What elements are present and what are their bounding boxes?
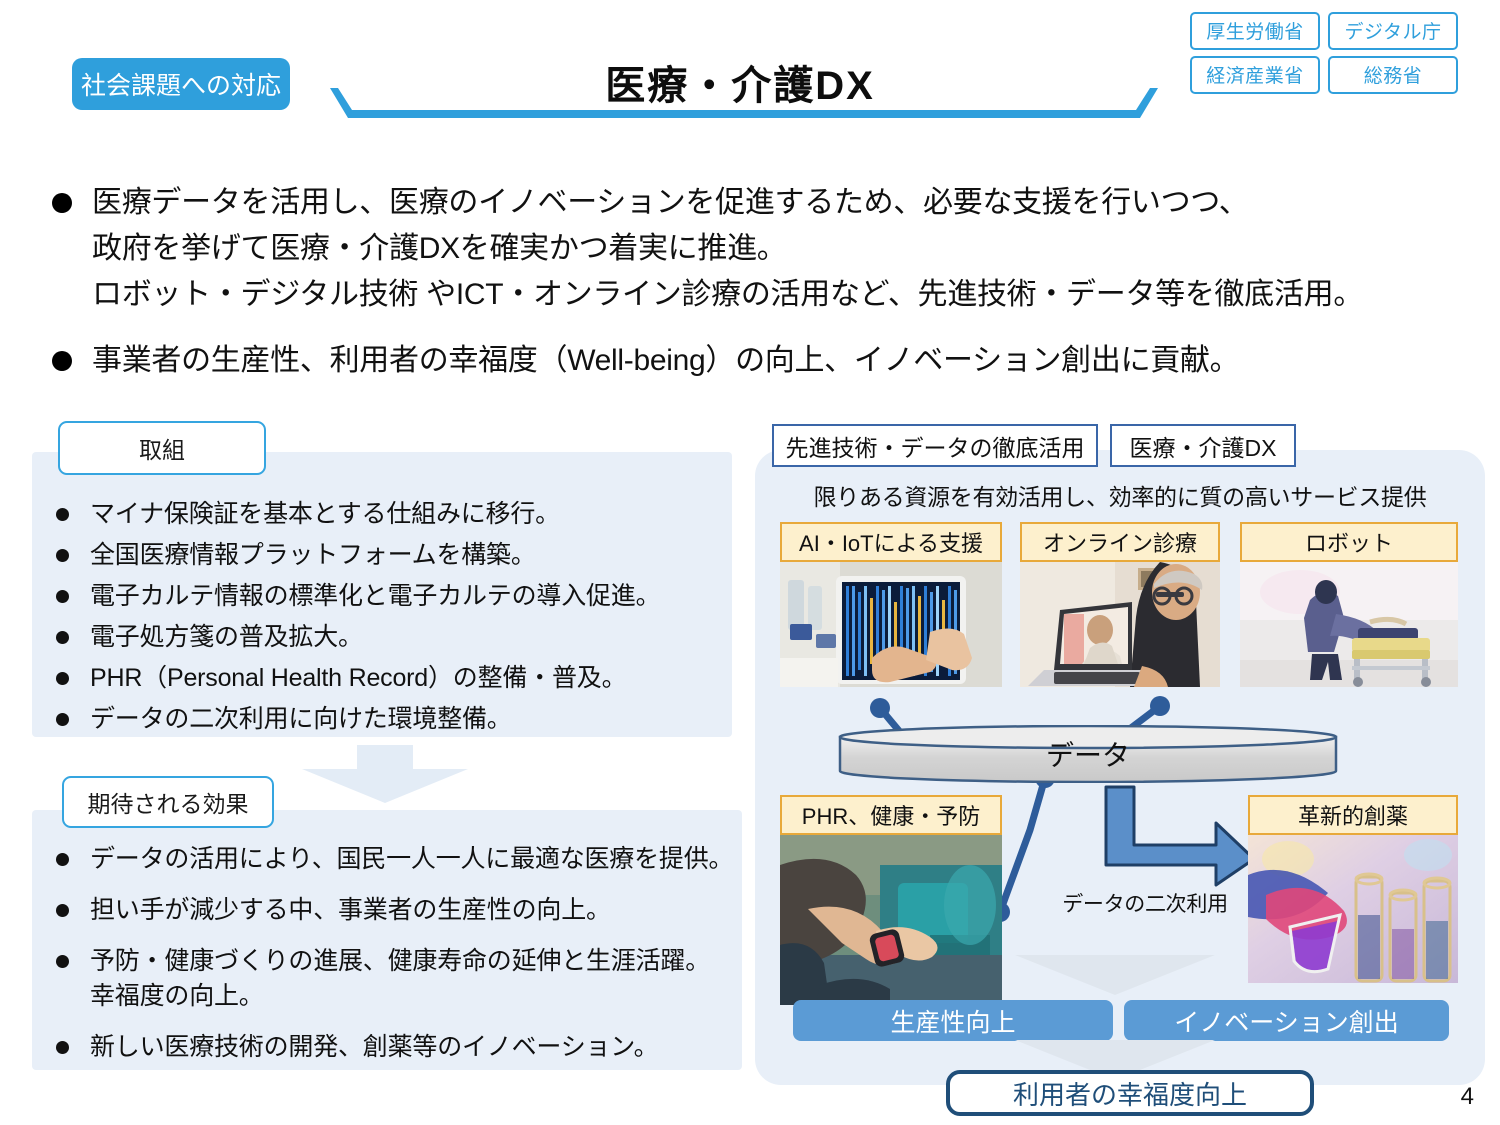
list-item: 電子処方箋の普及拡大。	[56, 620, 736, 655]
list-item: 予防・健康づくりの進展、健康寿命の延伸と生涯活躍。 幸福度の向上。	[56, 944, 756, 1014]
ministry-badge: デジタル庁	[1328, 12, 1458, 50]
list-item-label: 全国医療情報プラットフォームを構築。	[90, 538, 536, 573]
title-ribbon-decoration	[330, 88, 1158, 126]
list-item-label: データの二次利用に向けた環境整備。	[90, 702, 512, 737]
list-item: 担い手が減少する中、事業者の生産性の向上。	[56, 893, 756, 928]
list-item: データの活用により、国民一人一人に最適な医療を提供。	[56, 842, 756, 877]
list-item-label: 電子カルテ情報の標準化と電子カルテの導入促進。	[90, 579, 660, 614]
list-item: PHR（Personal Health Record）の整備・普及。	[56, 661, 736, 696]
flow-chevron-icon	[1015, 955, 1215, 997]
card-ai-iot: AI・IoTによる支援	[780, 522, 1002, 687]
list-item: 全国医療情報プラットフォームを構築。	[56, 538, 736, 573]
card-label: オンライン診療	[1020, 522, 1220, 562]
list-item-label: 電子処方箋の普及拡大。	[90, 620, 363, 655]
list-item: 電子カルテ情報の標準化と電子カルテの導入促進。	[56, 579, 736, 614]
lead-bullet-list: 医療データを活用し、医療のイノベーションを促進するため、必要な支援を行いつつ、 …	[52, 180, 1472, 390]
list-item-label: マイナ保険証を基本とする仕組みに移行。	[90, 497, 560, 532]
list-item-label: 新しい医療技術の開発、創薬等のイノベーション。	[90, 1030, 658, 1065]
lead-line: 医療データを活用し、医療のイノベーションを促進するため、必要な支援を行いつつ、	[92, 180, 1363, 226]
laboratory-beaker-photo	[1248, 835, 1458, 983]
card-label: ロボット	[1240, 522, 1458, 562]
ministry-badge-group: 厚生労働省 デジタル庁 経済産業省 総務省	[1190, 12, 1458, 94]
lead-bullet-text: 医療データを活用し、医療のイノベーションを促進するため、必要な支援を行いつつ、 …	[92, 180, 1363, 318]
ministry-badge: 経済産業省	[1190, 56, 1320, 94]
card-online-consult: オンライン診療	[1020, 522, 1220, 687]
card-label: AI・IoTによる支援	[780, 522, 1002, 562]
card-drug-discovery: 革新的創薬	[1248, 795, 1458, 983]
lead-line: 政府を挙げて医療・介護DXを確実かつ着実に推進。	[92, 226, 1363, 272]
bullet-dot-icon	[56, 549, 69, 562]
initiatives-tag: 取組	[58, 421, 266, 475]
header-box-tech: 先進技術・データの徹底活用	[772, 424, 1098, 467]
list-item-label: PHR（Personal Health Record）の整備・普及。	[90, 661, 626, 696]
bullet-dot-icon	[52, 193, 72, 213]
bullet-dot-icon	[56, 955, 69, 968]
flow-down-arrow-icon	[300, 745, 470, 805]
list-item-label: データの活用により、国民一人一人に最適な医療を提供。	[90, 842, 733, 877]
card-phr-health: PHR、健康・予防	[780, 795, 1002, 1005]
bullet-dot-icon	[56, 713, 69, 726]
list-item: 新しい医療技術の開発、創薬等のイノベーション。	[56, 1030, 756, 1065]
list-item-label: 担い手が減少する中、事業者の生産性の向上。	[90, 893, 611, 928]
effects-list: データの活用により、国民一人一人に最適な医療を提供。 担い手が減少する中、事業者…	[56, 842, 756, 1081]
diagram-subcaption: 限りある資源を有効活用し、効率的に質の高いサービス提供	[755, 478, 1485, 512]
secondary-use-arrow-icon	[1098, 783, 1258, 888]
section-category-badge: 社会課題への対応	[72, 58, 290, 110]
smartwatch-fitness-photo	[780, 835, 1002, 1005]
lead-line: 事業者の生産性、利用者の幸福度（Well-being）の向上、イノベーション創出…	[92, 338, 1239, 384]
ministry-badge: 総務省	[1328, 56, 1458, 94]
ministry-badge: 厚生労働省	[1190, 12, 1320, 50]
card-label: 革新的創薬	[1248, 795, 1458, 835]
final-outcome-box: 利用者の幸福度向上	[946, 1070, 1314, 1116]
lead-bullet-item: 事業者の生産性、利用者の幸福度（Well-being）の向上、イノベーション創出…	[52, 338, 1472, 384]
card-care-robot: ロボット	[1240, 522, 1458, 687]
tablet-genomic-data-photo	[780, 562, 1002, 687]
bullet-dot-icon	[56, 631, 69, 644]
laptop-video-consult-photo	[1020, 562, 1220, 687]
lead-bullet-item: 医療データを活用し、医療のイノベーションを促進するため、必要な支援を行いつつ、 …	[52, 180, 1472, 318]
bullet-dot-icon	[56, 904, 69, 917]
list-item-label: 予防・健康づくりの進展、健康寿命の延伸と生涯活躍。 幸福度の向上。	[90, 944, 710, 1014]
initiatives-list: マイナ保険証を基本とする仕組みに移行。 全国医療情報プラットフォームを構築。 電…	[56, 497, 736, 743]
care-robot-transfer-photo	[1240, 562, 1458, 687]
bullet-dot-icon	[56, 672, 69, 685]
secondary-use-label: データの二次利用	[1040, 888, 1250, 918]
bullet-dot-icon	[56, 590, 69, 603]
bullet-dot-icon	[52, 351, 72, 371]
bullet-dot-icon	[56, 1041, 69, 1054]
result-productivity-button[interactable]: 生産性向上	[793, 1000, 1113, 1041]
header-box-dx: 医療・介護DX	[1110, 424, 1296, 467]
list-item: マイナ保険証を基本とする仕組みに移行。	[56, 497, 736, 532]
bullet-dot-icon	[56, 853, 69, 866]
bullet-dot-icon	[56, 508, 69, 521]
card-label: PHR、健康・予防	[780, 795, 1002, 835]
lead-line: ロボット・デジタル技術 やICT・オンライン診療の活用など、先進技術・データ等を…	[92, 272, 1363, 318]
data-cylinder-label: データ	[838, 728, 1338, 780]
page-number: 4	[1461, 1083, 1474, 1111]
result-innovation-button[interactable]: イノベーション創出	[1124, 1000, 1449, 1041]
list-item: データの二次利用に向けた環境整備。	[56, 702, 736, 737]
lead-bullet-text: 事業者の生産性、利用者の幸福度（Well-being）の向上、イノベーション創出…	[92, 338, 1239, 384]
effects-tag: 期待される効果	[62, 776, 274, 828]
